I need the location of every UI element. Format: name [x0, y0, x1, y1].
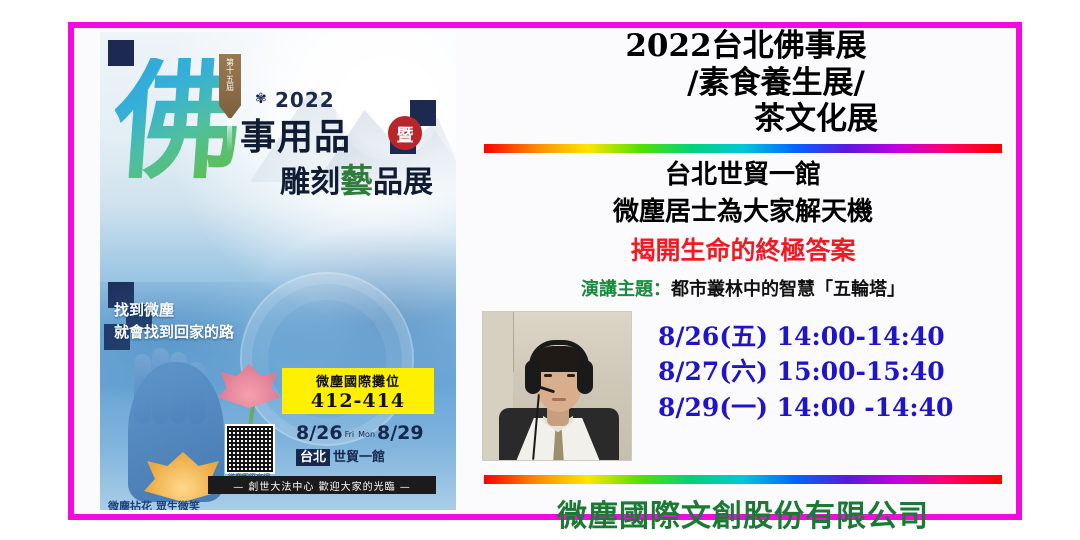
event-title-line3: 茶文化展: [470, 101, 1016, 138]
poster-title-line1: 事用品: [240, 108, 351, 160]
schedule-item: 8/29(一) 14:00 -14:40: [658, 390, 1016, 426]
poster-date-end: 8/29: [377, 422, 424, 444]
schedule-item: 8/26(五) 14:00-14:40: [658, 319, 1016, 355]
talk-topic: 演講主題：都市叢林中的智慧「五輪塔」: [470, 275, 1016, 301]
poster-venue-tag: 台北: [296, 449, 330, 466]
talk-topic-text: 都市叢林中的智慧「五輪塔」: [671, 279, 905, 300]
poster-date-end-day: Mon: [358, 430, 375, 439]
qr-code[interactable]: [225, 424, 275, 474]
talk-topic-label: 演講主題：: [581, 279, 671, 300]
poster-slogan: 找到微塵 就會找到回家的路: [114, 300, 234, 344]
poster-title-line2-b: 品展: [373, 165, 433, 200]
wall-edge: [513, 312, 514, 372]
schedule-list: 8/26(五) 14:00-14:40 8/27(六) 15:00-15:40 …: [632, 311, 1016, 461]
headline-red: 揭開生命的終極答案: [470, 231, 1016, 267]
event-info-panel: 2022台北佛事展 /素食養生展/ 茶文化展 台北世貿一館 微塵居士為大家解天機…: [470, 28, 1016, 514]
speaker-mouth: [552, 398, 566, 401]
event-title: 2022台北佛事展 /素食養生展/ 茶文化展: [470, 28, 1016, 138]
speaker-photo: [482, 311, 632, 461]
rainbow-divider-top: [484, 144, 1002, 153]
rainbow-divider-bottom: [484, 475, 1002, 484]
qr-pattern: [227, 426, 273, 472]
edition-char-4: 屆: [219, 84, 241, 92]
poster-title-line2-a: 雕刻: [280, 165, 340, 200]
booth-callout: 微塵國際攤位 412-414: [282, 368, 434, 414]
poster-date-range: 8/26FriMon8/29: [296, 422, 424, 444]
poster-title-line2: 雕刻藝品展: [280, 154, 433, 202]
poster-venue-name: 世貿一館: [333, 450, 385, 465]
poster-title-yi: 藝: [340, 161, 373, 200]
poster-seal-char: 暨: [388, 116, 422, 150]
poster-venue: 台北世貿一館: [296, 446, 385, 465]
speaker-eye: [567, 374, 575, 377]
speaker-eye: [544, 374, 552, 377]
mandala-ring: [240, 272, 414, 446]
exhibition-poster-image: 佛 第 十 五 屆 ✾ 2022 事用品 暨 雕刻藝品展 找到微塵 就會找到回家…: [100, 32, 456, 510]
schedule-item: 8/27(六) 15:00-15:40: [658, 354, 1016, 390]
poster-date-start-day: Fri: [345, 430, 355, 439]
poster-slogan-line2: 就會找到回家的路: [114, 322, 234, 344]
booth-number: 412-414: [311, 390, 405, 412]
poster-date-start: 8/26: [296, 422, 343, 444]
banner-tail: [227, 118, 232, 152]
poster-foot-slogan: 微塵拈花 眾生微笑: [108, 498, 200, 510]
venue-line-1: 台北世貿一館: [470, 160, 1016, 191]
lotus-mark-icon: ✾: [255, 90, 267, 107]
booth-label: 微塵國際攤位: [316, 371, 400, 390]
company-name: 微塵國際文創股份有限公司: [470, 491, 1016, 535]
venue-line-2: 微塵居士為大家解天機: [470, 191, 1016, 228]
headphone-band: [529, 340, 589, 366]
event-title-line2: /素食養生展/: [470, 65, 1016, 102]
poster-slogan-line1: 找到微塵: [114, 300, 234, 322]
event-title-line1: 2022台北佛事展: [470, 28, 1016, 65]
poster-dark-banner: — 創世大法中心 歡迎大家的光臨 —: [208, 476, 436, 494]
speaker-and-schedule-row: 8/26(五) 14:00-14:40 8/27(六) 15:00-15:40 …: [470, 311, 1016, 461]
slide-canvas: 佛 第 十 五 屆 ✾ 2022 事用品 暨 雕刻藝品展 找到微塵 就會找到回家…: [0, 0, 1080, 540]
